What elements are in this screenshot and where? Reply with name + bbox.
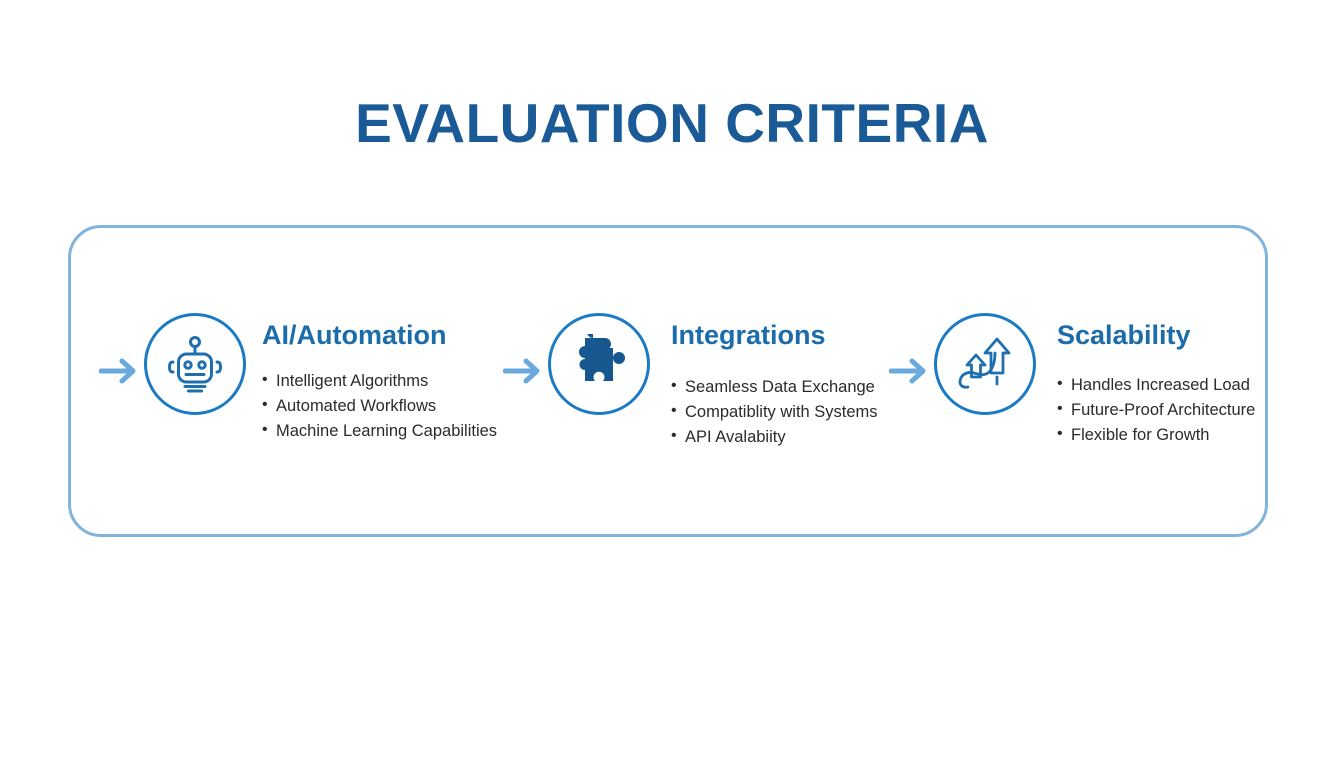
- bullet-list-ai-automation: Intelligent Algorithms Automated Workflo…: [262, 369, 512, 444]
- robot-icon: [164, 333, 226, 395]
- criteria-panel: AI/Automation Intelligent Algorithms Aut…: [68, 225, 1268, 537]
- group-heading: AI/Automation: [262, 320, 512, 351]
- list-item: Intelligent Algorithms: [262, 369, 512, 394]
- list-item: API Avalabiity: [671, 425, 921, 450]
- group-heading: Integrations: [671, 320, 921, 351]
- list-item: Compatiblity with Systems: [671, 400, 921, 425]
- bullet-list-integrations: Seamless Data Exchange Compatiblity with…: [671, 375, 921, 450]
- text-block-scalability: Scalability Handles Increased Load Futur…: [1057, 320, 1307, 448]
- criteria-group-integrations: Integrations Seamless Data Exchange Comp…: [503, 228, 903, 540]
- puzzle-piece-icon: [569, 334, 629, 394]
- list-item: Automated Workflows: [262, 394, 512, 419]
- criteria-group-ai-automation: AI/Automation Intelligent Algorithms Aut…: [99, 228, 519, 540]
- growth-arrows-icon: [954, 333, 1016, 395]
- text-block-integrations: Integrations Seamless Data Exchange Comp…: [671, 320, 921, 450]
- criteria-group-scalability: Scalability Handles Increased Load Futur…: [889, 228, 1259, 540]
- bullet-list-scalability: Handles Increased Load Future-Proof Arch…: [1057, 373, 1307, 448]
- icon-circle-integrations: [548, 313, 650, 415]
- list-item: Machine Learning Capabilities: [262, 419, 512, 444]
- text-block-ai-automation: AI/Automation Intelligent Algorithms Aut…: [262, 320, 512, 444]
- group-heading: Scalability: [1057, 320, 1307, 351]
- page-title: EVALUATION CRITERIA: [0, 93, 1344, 154]
- right-arrow-icon: [99, 354, 141, 388]
- list-item: Seamless Data Exchange: [671, 375, 921, 400]
- right-arrow-icon: [889, 354, 931, 388]
- icon-circle-scalability: [934, 313, 1036, 415]
- list-item: Handles Increased Load: [1057, 373, 1307, 398]
- list-item: Future-Proof Architecture: [1057, 398, 1307, 423]
- right-arrow-icon: [503, 354, 545, 388]
- list-item: Flexible for Growth: [1057, 423, 1307, 448]
- icon-circle-ai-automation: [144, 313, 246, 415]
